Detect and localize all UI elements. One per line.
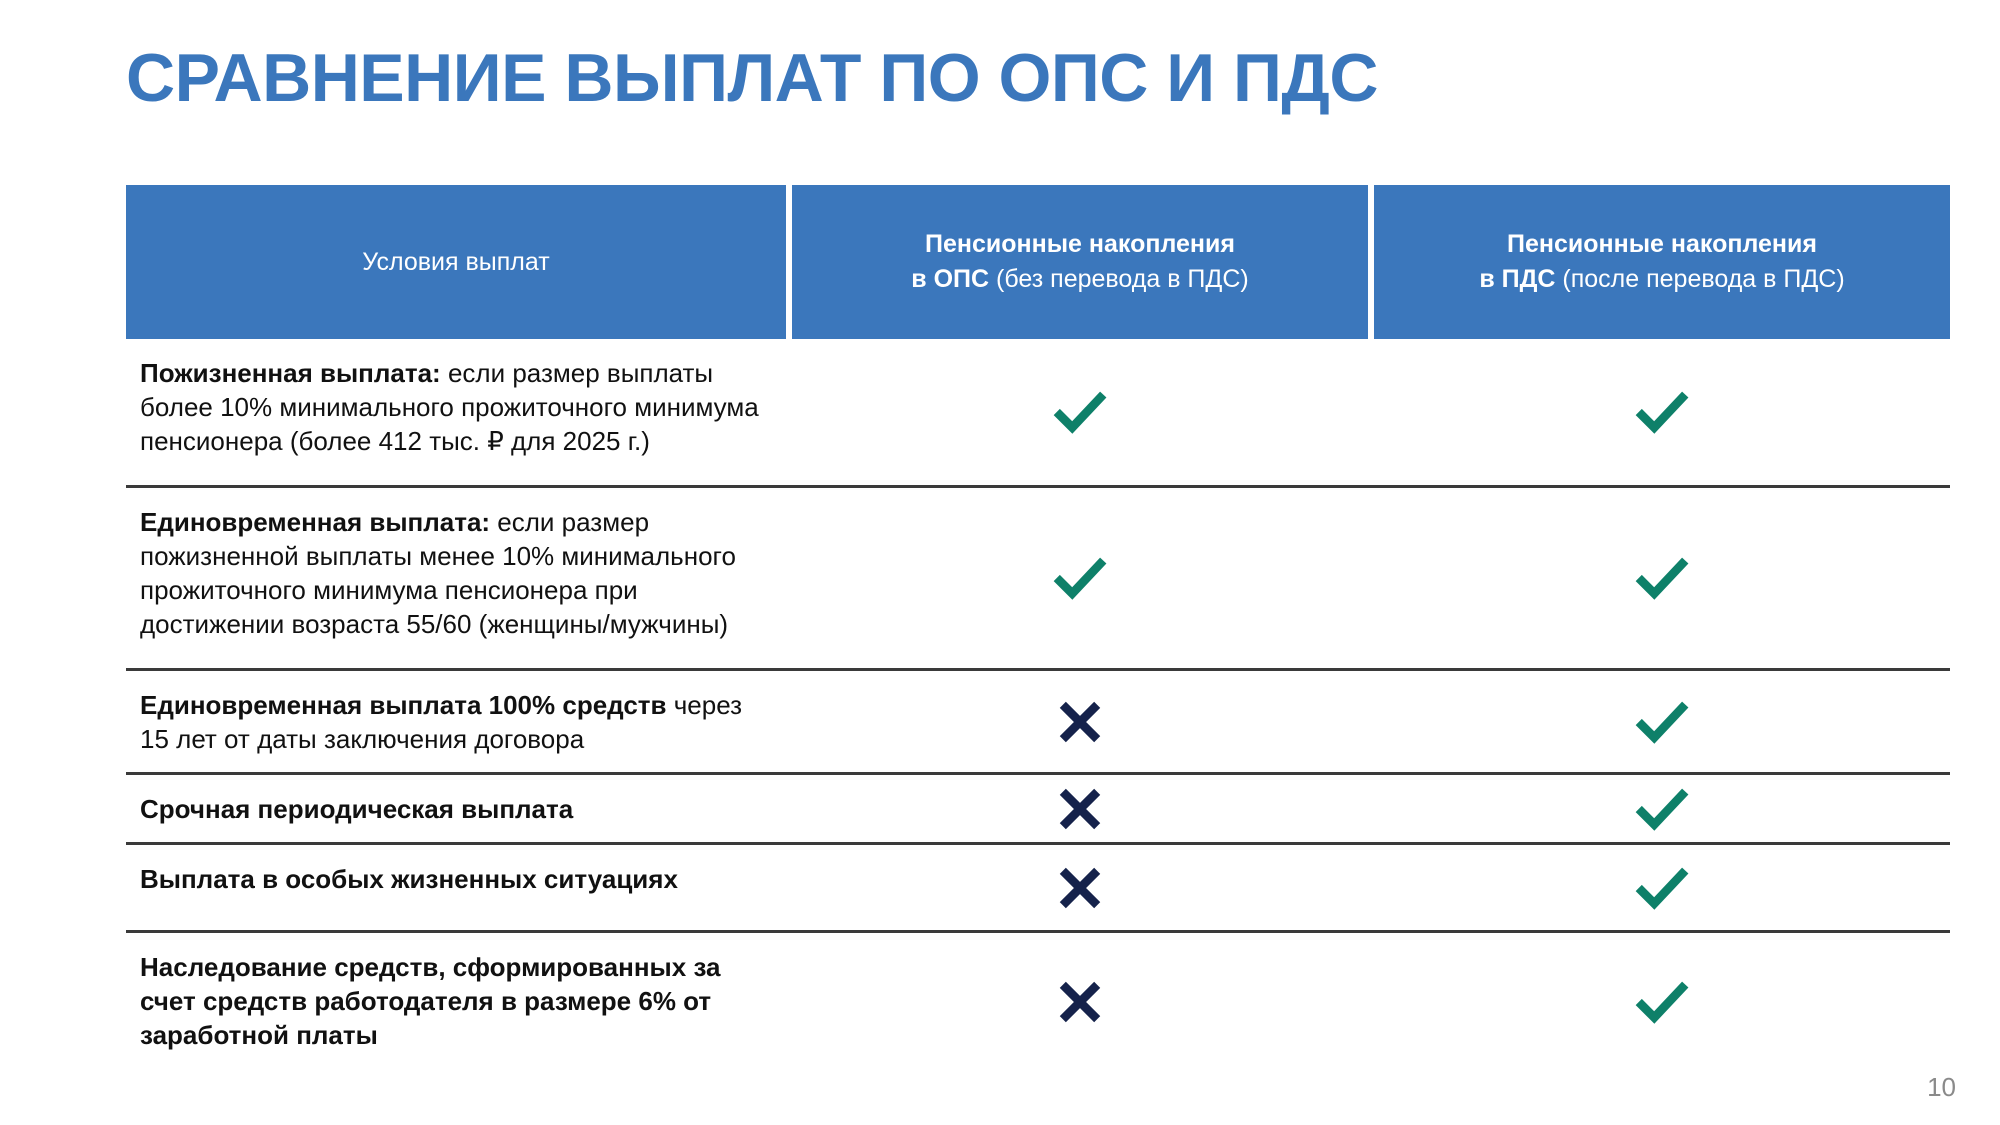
table-row: Срочная периодическая выплата <box>126 775 1950 845</box>
check-icon <box>1631 857 1693 919</box>
table-header-row: Условия выплат Пенсионные накопления в О… <box>126 185 1950 339</box>
column-header-pds-line1: Пенсионные накопления <box>1507 230 1817 258</box>
row-ops-cell <box>792 775 1368 842</box>
row-ops-cell <box>792 488 1368 668</box>
column-header-pds: Пенсионные накопления в ПДС (после перев… <box>1374 185 1950 339</box>
cross-icon <box>1055 697 1105 747</box>
cross-icon <box>1055 784 1105 834</box>
slide-root: СРАВНЕНИЕ ВЫПЛАТ ПО ОПС И ПДС Условия вы… <box>0 0 2000 1125</box>
page-number: 10 <box>1927 1072 1956 1103</box>
row-condition-label-bold: Выплата в особых жизненных ситуациях <box>140 864 678 894</box>
check-icon <box>1631 691 1693 753</box>
row-pds-cell <box>1374 488 1950 668</box>
row-condition-cell: Единовременная выплата 100% средств чере… <box>126 671 786 772</box>
row-pds-cell <box>1374 845 1950 930</box>
check-icon <box>1631 778 1693 840</box>
row-condition-cell: Пожизненная выплата: если размер выплаты… <box>126 339 786 485</box>
row-ops-cell <box>792 339 1368 485</box>
row-ops-cell <box>792 671 1368 772</box>
check-icon <box>1049 547 1111 609</box>
check-icon <box>1631 971 1693 1033</box>
column-header-conditions-label: Условия выплат <box>362 245 549 280</box>
row-condition-label-bold: Единовременная выплата: <box>140 507 490 537</box>
check-icon <box>1631 547 1693 609</box>
table-row: Наследование средств, сформированных за … <box>126 933 1950 1070</box>
check-icon <box>1631 381 1693 443</box>
column-header-ops: Пенсионные накопления в ОПС (без перевод… <box>792 185 1368 339</box>
row-condition-label-bold: Наследование средств, сформированных за … <box>140 952 720 1050</box>
column-header-ops-line2-bold: в ОПС <box>911 265 989 293</box>
table-row: Выплата в особых жизненных ситуациях <box>126 845 1950 933</box>
row-condition-cell: Выплата в особых жизненных ситуациях <box>126 845 786 930</box>
column-header-ops-line1: Пенсионные накопления <box>925 230 1235 258</box>
table-row: Единовременная выплата: если размер пожи… <box>126 488 1950 671</box>
row-ops-cell <box>792 933 1368 1070</box>
table-row: Пожизненная выплата: если размер выплаты… <box>126 339 1950 488</box>
row-pds-cell <box>1374 933 1950 1070</box>
check-icon <box>1049 381 1111 443</box>
page-title: СРАВНЕНИЕ ВЫПЛАТ ПО ОПС И ПДС <box>126 38 1378 118</box>
column-header-pds-line2-bold: в ПДС <box>1479 265 1555 293</box>
cross-icon <box>1055 863 1105 913</box>
row-condition-label-bold: Пожизненная выплата: <box>140 358 441 388</box>
row-condition-cell: Единовременная выплата: если размер пожи… <box>126 488 786 668</box>
row-condition-label-bold: Единовременная выплата 100% средств <box>140 690 667 720</box>
column-header-ops-line2-regular: (без перевода в ПДС) <box>989 265 1249 293</box>
row-pds-cell <box>1374 671 1950 772</box>
row-condition-cell: Срочная периодическая выплата <box>126 775 786 842</box>
row-ops-cell <box>792 845 1368 930</box>
row-pds-cell <box>1374 339 1950 485</box>
column-header-pds-line2-regular: (после перевода в ПДС) <box>1555 265 1844 293</box>
comparison-table: Условия выплат Пенсионные накопления в О… <box>126 185 1950 1070</box>
cross-icon <box>1055 977 1105 1027</box>
row-condition-label-bold: Срочная периодическая выплата <box>140 794 573 824</box>
row-condition-cell: Наследование средств, сформированных за … <box>126 933 786 1070</box>
table-row: Единовременная выплата 100% средств чере… <box>126 671 1950 775</box>
column-header-conditions: Условия выплат <box>126 185 786 339</box>
row-pds-cell <box>1374 775 1950 842</box>
